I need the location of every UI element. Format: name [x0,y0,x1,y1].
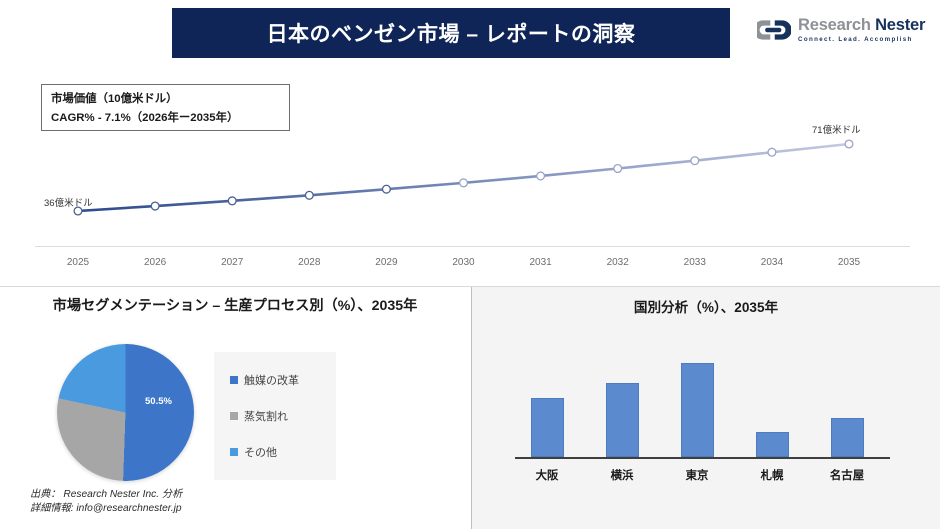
line-chart-tick-2033: 2033 [665,257,725,268]
line-start-value-label: 36億米ドル [44,195,93,209]
line-chart-tick-2035: 2035 [819,257,879,268]
bar-label-名古屋: 名古屋 [812,467,882,483]
pie-legend-item[interactable]: 蒸気割れ [230,408,336,424]
pie-legend-label: 触媒の改革 [244,372,299,388]
bar-label-横浜: 横浜 [587,467,657,483]
header-banner: 日本のベンゼン市場 – レポートの洞察 [172,8,730,58]
line-data-point [228,197,236,205]
source-line-1: 出典： Research Nester Inc. 分析 [30,488,182,502]
line-end-value-label: 71億米ドル [812,122,861,136]
pie-legend-swatch [230,448,238,456]
line-chart-plot [0,60,940,285]
line-data-point [383,185,391,193]
bar-chart: 大阪横浜東京札幌名古屋 [471,330,940,490]
logo-name-research: Research [798,16,875,34]
logo-tagline: Connect. Lead. Accomplish [798,37,925,43]
source-line-2: 詳細情報: info@researchnester.jp [30,502,182,516]
bar-chart-title: 国別分析（%）、2035年 [472,287,940,319]
line-chart-tick-2027: 2027 [202,257,262,268]
brand-logo: Research Nester Connect. Lead. Accomplis… [757,17,925,43]
page-title: 日本のベンゼン市場 – レポートの洞察 [267,18,636,48]
pie-legend-item[interactable]: 触媒の改革 [230,372,336,388]
bar-大阪 [531,398,564,457]
pie-chart-legend: 触媒の改革蒸気割れその他 [214,352,336,480]
bar-横浜 [606,383,639,457]
line-data-point [305,191,313,199]
bar-東京 [681,363,714,457]
chain-link-icon [757,18,791,42]
line-chart-tick-2030: 2030 [434,257,494,268]
line-chart-tick-2034: 2034 [742,257,802,268]
logo-wordmark: Research Nester Connect. Lead. Accomplis… [798,17,925,43]
line-data-point [151,202,159,210]
line-data-point [845,140,853,148]
line-data-point [614,165,622,173]
line-chart-tick-2031: 2031 [511,257,571,268]
line-chart-tick-2026: 2026 [125,257,185,268]
line-data-point [691,157,699,165]
line-data-point [537,172,545,180]
line-chart-tick-2028: 2028 [279,257,339,268]
pie-legend-swatch [230,412,238,420]
pie-legend-label: 蒸気割れ [244,408,288,424]
pie-legend-swatch [230,376,238,384]
line-chart-tick-2032: 2032 [588,257,648,268]
bar-名古屋 [831,418,864,457]
logo-name: Research Nester [798,17,925,34]
line-chart-tick-2029: 2029 [356,257,416,268]
line-data-point [460,179,468,187]
pie-chart-title: 市場セグメンテーション – 生産プロセス別（%）、2035年 [0,287,470,318]
pie-chart [57,344,194,481]
line-chart-tick-2025: 2025 [48,257,108,268]
pie-slice-label: 50.5% [145,396,172,407]
bar-label-札幌: 札幌 [737,467,807,483]
line-data-point [768,148,776,156]
bar-label-東京: 東京 [662,467,732,483]
bar-label-大阪: 大阪 [512,467,582,483]
logo-name-nester: Nester [875,16,925,34]
bar-札幌 [756,432,789,457]
pie-legend-item[interactable]: その他 [230,444,336,460]
source-note: 出典： Research Nester Inc. 分析 詳細情報: info@r… [30,488,182,516]
pie-legend-label: その他 [244,444,277,460]
slide-root: 日本のベンゼン市場 – レポートの洞察 Research Nester Conn… [0,0,940,529]
bar-chart-baseline [515,457,890,459]
market-value-line-chart: 2025202620272028202920302031203220332034… [0,60,940,285]
